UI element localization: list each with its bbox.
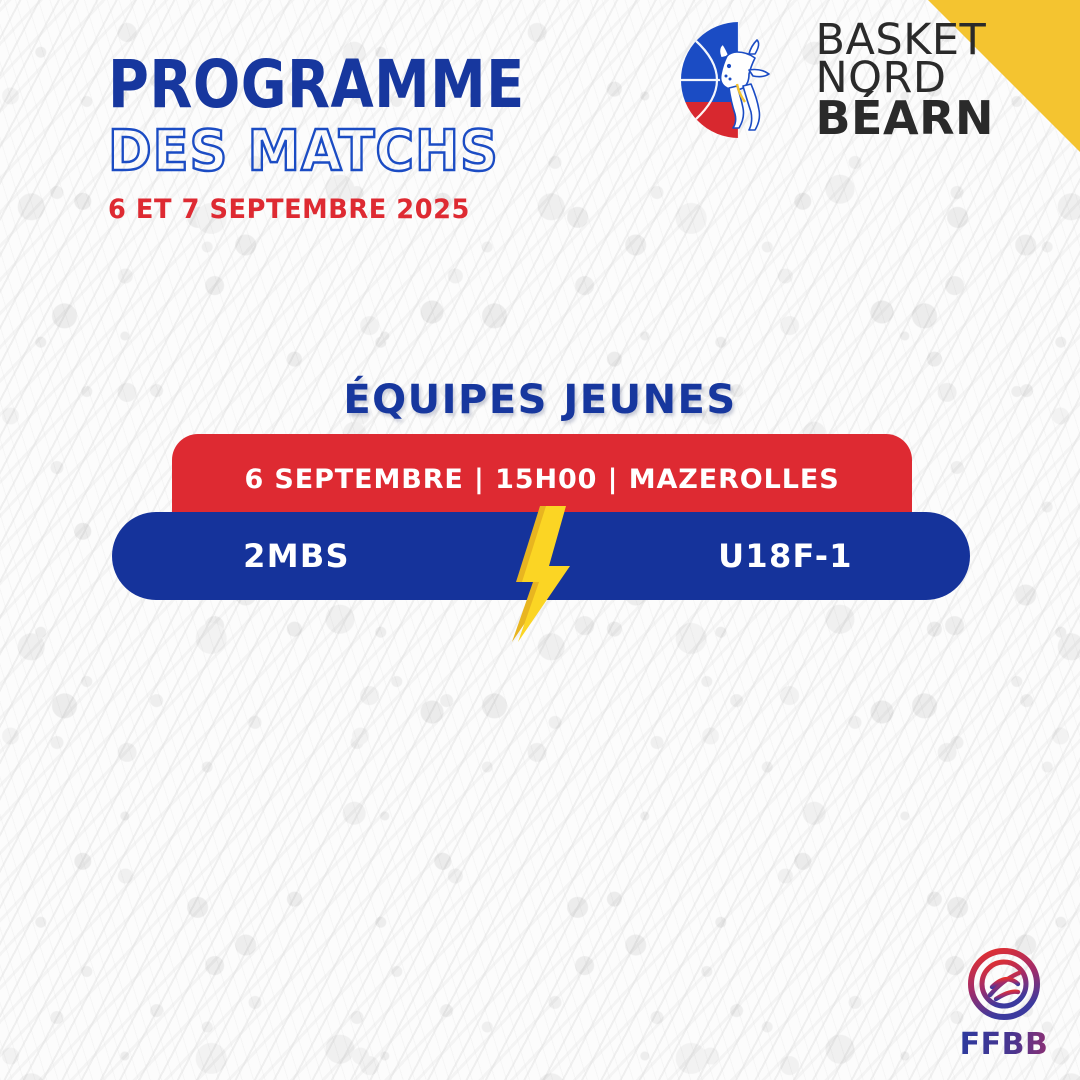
ffbb-label: FFBB [960, 1027, 1049, 1060]
home-team-label: 2MBS [112, 537, 481, 575]
match-card[interactable]: 6 SEPTEMBRE | 15H00 | MAZEROLLES 2MBS U1… [0, 434, 1080, 634]
ffbb-wordmark: FFBB [956, 1026, 1052, 1060]
section-heading-equipes-jeunes: ÉQUIPES JEUNES [0, 377, 1080, 423]
basket-nord-bearn-cow-emblem-icon [677, 18, 801, 142]
lightning-bolt-icon [502, 504, 578, 644]
ffbb-basketball-icon [966, 946, 1042, 1022]
club-word-bearn: BÉARN [815, 98, 994, 139]
away-team-label: U18F-1 [601, 537, 970, 575]
page-title: PROGRAMME [108, 52, 525, 118]
date-range-label: 6 ET 7 SEPTEMBRE 2025 [108, 194, 529, 225]
club-logo: BASKET NORD BÉARN [677, 18, 994, 142]
title-block: PROGRAMME DES MATCHS 6 ET 7 SEPTEMBRE 20… [108, 52, 551, 225]
club-name-wordmark: BASKET NORD BÉARN [815, 21, 994, 140]
federation-logo: FFBB [950, 946, 1058, 1060]
match-info-label: 6 SEPTEMBRE | 15H00 | MAZEROLLES [244, 464, 839, 495]
page-subtitle: DES MATCHS [108, 124, 525, 180]
poster-canvas: PROGRAMME DES MATCHS 6 ET 7 SEPTEMBRE 20… [0, 0, 1080, 1080]
